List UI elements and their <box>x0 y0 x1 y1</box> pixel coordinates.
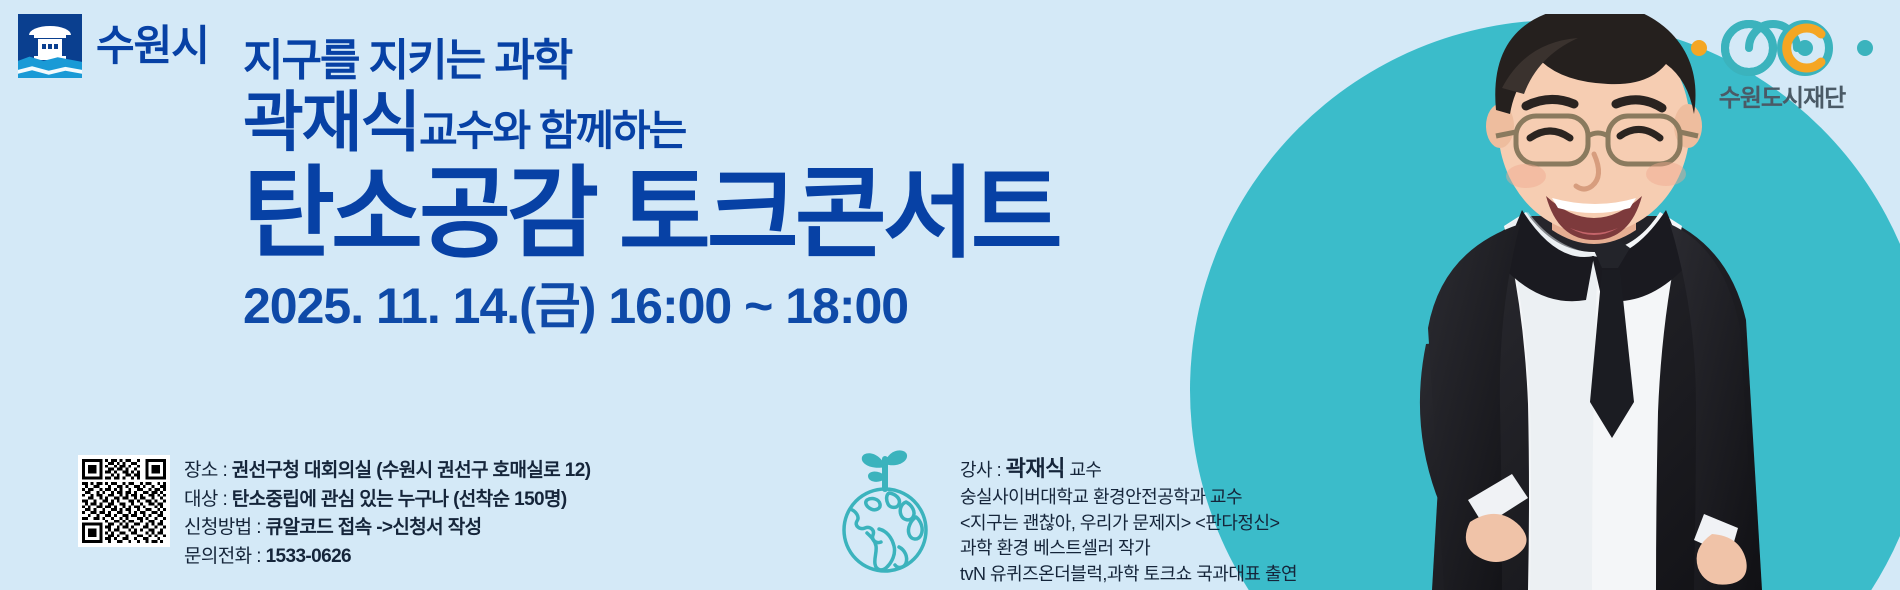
suwon-city-logo-label: 수원시 <box>96 25 209 67</box>
event-details-block: 장소 : 권선구청 대회의실 (수원시 권선구 호매실로 12) 대상 : 탄소… <box>78 455 590 571</box>
suwon-city-logo: 수원시 <box>18 14 209 78</box>
detail-value: 1533-0626 <box>266 546 351 567</box>
lecturer-bio-line: tvN 유퀴즈온더블럭,과학 토크쇼 국과대표 출연 <box>960 562 1297 588</box>
detail-label: 장소 : <box>184 460 232 481</box>
detail-label: 문의전화 : <box>184 546 266 567</box>
suwon-hwaseong-pavilion-icon <box>18 14 82 78</box>
qr-code-icon[interactable] <box>78 455 170 547</box>
lecturer-bio-line: <지구는 괜찮아, 우리가 문제지> <판다정신> <box>960 511 1297 537</box>
event-banner: 수원시 수원도시재단 지구를 지키는 과학 곽재식교수와 함께하는 탄소공감 토… <box>0 0 1900 590</box>
lecturer-title-suffix: 교수 <box>1065 460 1102 480</box>
lecturer-bio-line: 과학 환경 베스트셀러 작가 <box>960 536 1297 562</box>
detail-value: 큐알코드 접속 ->신청서 작성 <box>266 517 482 538</box>
detail-row: 신청방법 : 큐알코드 접속 ->신청서 작성 <box>184 514 590 543</box>
detail-value: 탄소중립에 관심 있는 누구나 (선착순 150명) <box>232 489 567 510</box>
detail-value: 권선구청 대회의실 (수원시 권선구 호매실로 12) <box>232 460 591 481</box>
lecturer-name-line: 강사 : 곽재식 교수 <box>960 452 1297 485</box>
detail-row: 문의전화 : 1533-0626 <box>184 543 590 572</box>
headline-kicker: 지구를 지키는 과학 <box>243 38 1059 84</box>
event-detail-lines: 장소 : 권선구청 대회의실 (수원시 권선구 호매실로 12) 대상 : 탄소… <box>184 455 590 571</box>
lecturer-bio-line: 숭실사이버대학교 환경안전공학과 교수 <box>960 485 1297 511</box>
event-datetime: 2025. 11. 14.(금) 16:00 ~ 18:00 <box>243 281 1059 331</box>
headline-speaker-line: 곽재식교수와 함께하는 <box>243 88 1059 157</box>
detail-label: 대상 : <box>184 489 232 510</box>
headline-speaker-name: 곽재식 <box>243 85 419 159</box>
headline-speaker-suffix: 교수와 함께하는 <box>419 107 685 154</box>
detail-row: 대상 : 탄소중립에 관심 있는 누구나 (선착순 150명) <box>184 486 590 515</box>
earth-with-sprout-icon <box>826 443 944 573</box>
event-title: 탄소공감 토크콘서트 <box>243 161 1059 267</box>
lecturer-prefix: 강사 : <box>960 460 1006 480</box>
detail-row: 장소 : 권선구청 대회의실 (수원시 권선구 호매실로 12) <box>184 457 590 486</box>
headline-block: 지구를 지키는 과학 곽재식교수와 함께하는 탄소공감 토크콘서트 2025. … <box>243 38 1059 331</box>
detail-label: 신청방법 : <box>184 517 266 538</box>
speaker-photo <box>1330 14 1800 590</box>
lecturer-info-block: 강사 : 곽재식 교수 숭실사이버대학교 환경안전공학과 교수 <지구는 괜찮아… <box>960 452 1297 587</box>
lecturer-name: 곽재식 <box>1006 456 1065 481</box>
